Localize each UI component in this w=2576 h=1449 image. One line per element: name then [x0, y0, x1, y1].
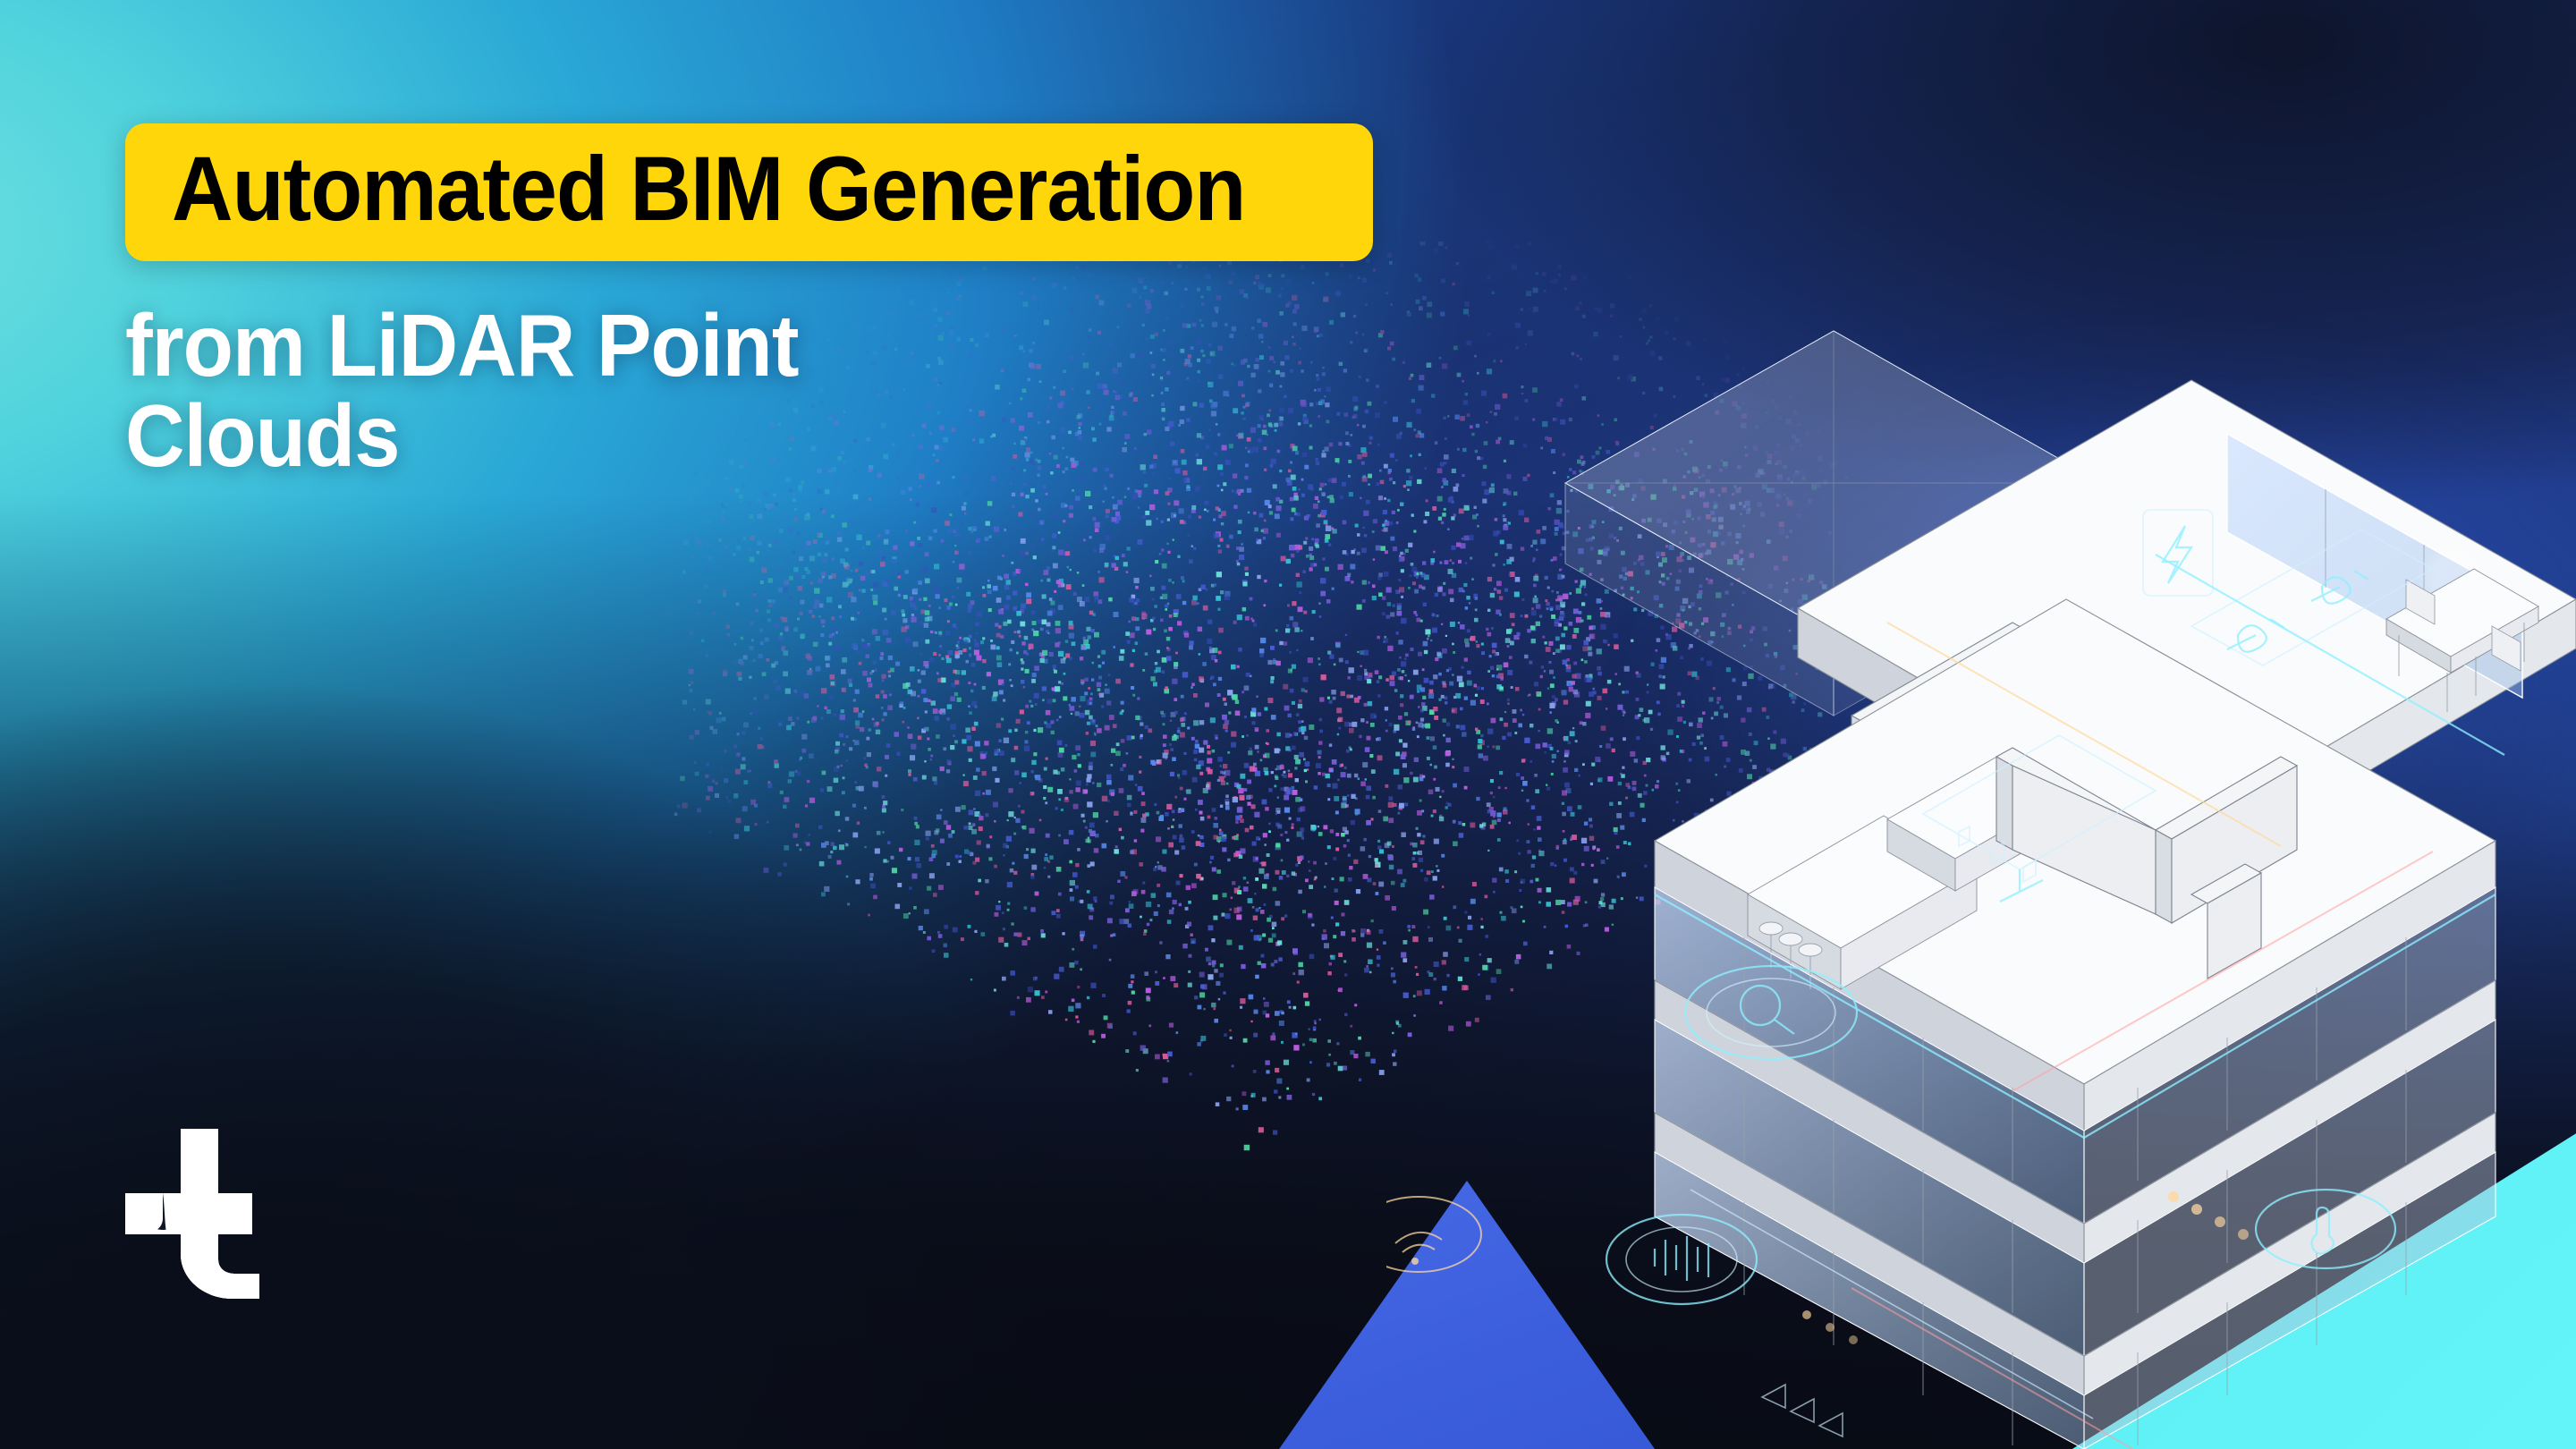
- wifi-icon: [1386, 1197, 1481, 1272]
- hero-text-block: Automated BIM Generation from LiDAR Poin…: [125, 123, 1467, 481]
- headline-badge-label: Automated BIM Generation: [172, 143, 1245, 234]
- headline-badge: Automated BIM Generation: [125, 123, 1373, 261]
- bim-isometric-model: [1386, 215, 2576, 1449]
- lowercase-t-logo: [125, 1129, 268, 1299]
- chevron-arrows-icon: [1762, 1385, 1843, 1436]
- hero-subtitle: from LiDAR Point Clouds: [125, 301, 865, 481]
- hero-banner: Automated BIM Generation from LiDAR Poin…: [0, 0, 2576, 1449]
- hero-subtitle-line-1: from LiDAR Point: [125, 301, 865, 391]
- hero-subtitle-line-2: Clouds: [125, 391, 865, 481]
